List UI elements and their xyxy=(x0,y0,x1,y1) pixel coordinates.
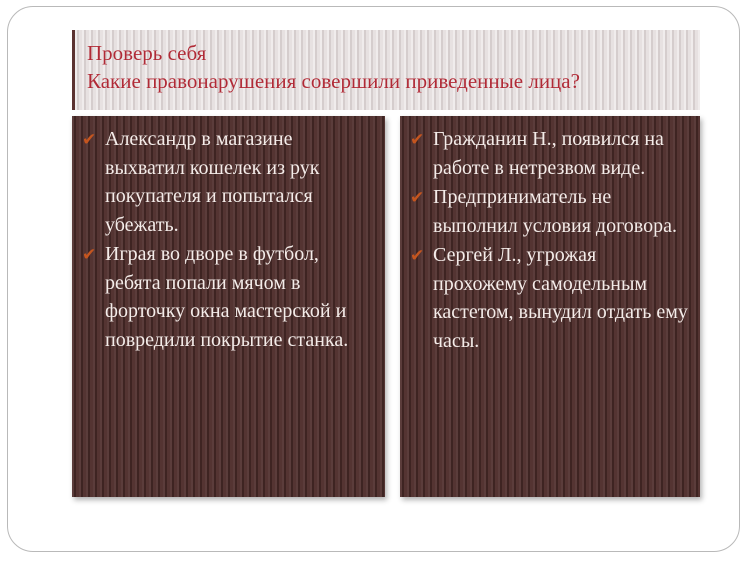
slide-title-block: Проверь себя Какие правонарушения соверш… xyxy=(72,30,700,110)
list-item: ✔ Александр в магазине выхватил кошелек … xyxy=(78,125,377,239)
list-item: ✔ Гражданин Н., появился на работе в нет… xyxy=(406,125,692,182)
page-title-line-1: Проверь себя xyxy=(87,39,700,67)
page-title-line-2: Какие правонарушения совершили приведенн… xyxy=(87,67,700,95)
bullet-list-left: ✔ Александр в магазине выхватил кошелек … xyxy=(78,125,377,354)
content-column-right: ✔ Гражданин Н., появился на работе в нет… xyxy=(400,116,700,497)
bullet-list-right: ✔ Гражданин Н., появился на работе в нет… xyxy=(406,125,692,355)
list-item-text: Александр в магазине выхватил кошелек из… xyxy=(105,128,319,236)
content-column-left: ✔ Александр в магазине выхватил кошелек … xyxy=(72,116,385,497)
check-icon: ✔ xyxy=(82,126,96,155)
list-item-text: Сергей Л., угрожая прохожему самодельным… xyxy=(433,244,688,352)
list-item: ✔ Предприниматель не выполнил условия до… xyxy=(406,183,692,240)
list-item-text: Гражданин Н., появился на работе в нетре… xyxy=(433,128,664,179)
check-icon: ✔ xyxy=(410,126,424,155)
list-item: ✔ Играя во дворе в футбол, ребята попали… xyxy=(78,240,377,354)
list-item-text: Предприниматель не выполнил условия дого… xyxy=(433,186,677,237)
check-icon: ✔ xyxy=(82,241,96,270)
list-item: ✔ Сергей Л., угрожая прохожему самодельн… xyxy=(406,241,692,355)
check-icon: ✔ xyxy=(410,242,424,271)
list-item-text: Играя во дворе в футбол, ребята попали м… xyxy=(105,243,348,351)
check-icon: ✔ xyxy=(410,184,424,213)
